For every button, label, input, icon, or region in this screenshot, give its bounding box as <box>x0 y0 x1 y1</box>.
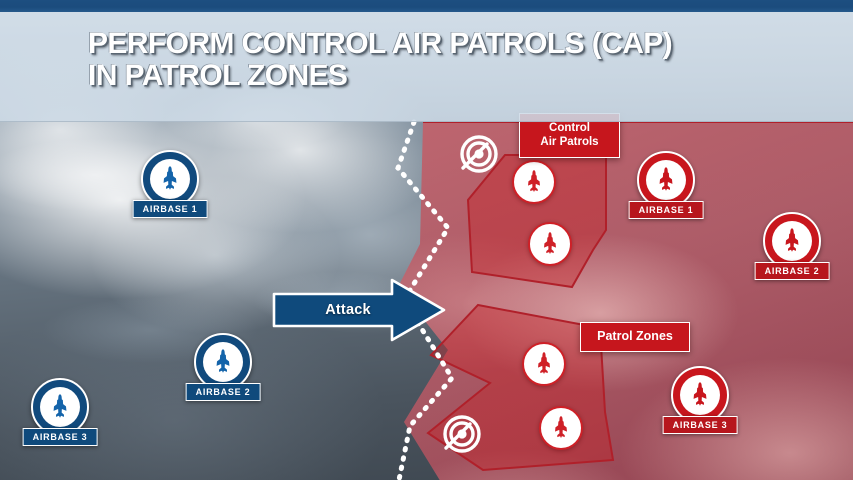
callout-patrol-zones[interactable]: Patrol Zones <box>580 322 690 352</box>
red-airbase-marker-2[interactable]: AIRBASE 2 <box>763 212 821 270</box>
fighter-jet-icon <box>531 351 557 377</box>
fighter-jet-icon <box>686 381 714 409</box>
fighter-jet-icon <box>778 227 806 255</box>
fighter-jet-icon <box>156 165 184 193</box>
airbase-disc-inner <box>150 159 190 199</box>
page-title: PERFORM CONTROL AIR PATROLS (CAP) IN PAT… <box>88 28 808 91</box>
fighter-jet-icon <box>46 393 74 421</box>
airbase-label: AIRBASE 2 <box>755 262 830 280</box>
patrol-jet-marker[interactable] <box>512 160 556 204</box>
airbase-disc-inner <box>680 375 720 415</box>
airbase-label: AIRBASE 3 <box>663 416 738 434</box>
top-accent-strip <box>0 0 853 12</box>
red-airbase-marker-1[interactable]: AIRBASE 1 <box>637 151 695 209</box>
callout-line-1: Control <box>526 121 613 135</box>
airbase-disc-inner <box>203 342 243 382</box>
fighter-jet-icon <box>209 348 237 376</box>
airbase-label: AIRBASE 1 <box>133 200 208 218</box>
callout-line-1: Patrol Zones <box>587 329 683 344</box>
airbase-disc-inner <box>772 221 812 261</box>
red-airbase-marker-3[interactable]: AIRBASE 3 <box>671 366 729 424</box>
patrol-jet-marker[interactable] <box>522 342 566 386</box>
airbase-disc-inner <box>40 387 80 427</box>
blue-airbase-marker-2[interactable]: AIRBASE 2 <box>194 333 252 391</box>
fighter-jet-icon <box>548 415 574 441</box>
patrol-jet-marker[interactable] <box>528 222 572 266</box>
airbase-disc-inner <box>646 160 686 200</box>
slide-canvas: Attack AIRBASE 1 AIRBASE 2 <box>0 0 853 480</box>
callout-line-2: Air Patrols <box>526 135 613 149</box>
radar-target-icon <box>438 410 486 458</box>
blue-airbase-marker-3[interactable]: AIRBASE 3 <box>31 378 89 436</box>
patrol-jet-marker[interactable] <box>539 406 583 450</box>
radar-target-icon <box>455 130 503 178</box>
attack-arrow-label: Attack <box>272 277 424 343</box>
airbase-label: AIRBASE 1 <box>629 201 704 219</box>
airbase-label: AIRBASE 2 <box>186 383 261 401</box>
fighter-jet-icon <box>652 166 680 194</box>
blue-airbase-marker-1[interactable]: AIRBASE 1 <box>141 150 199 208</box>
airbase-label: AIRBASE 3 <box>23 428 98 446</box>
fighter-jet-icon <box>537 231 563 257</box>
fighter-jet-icon <box>521 169 547 195</box>
